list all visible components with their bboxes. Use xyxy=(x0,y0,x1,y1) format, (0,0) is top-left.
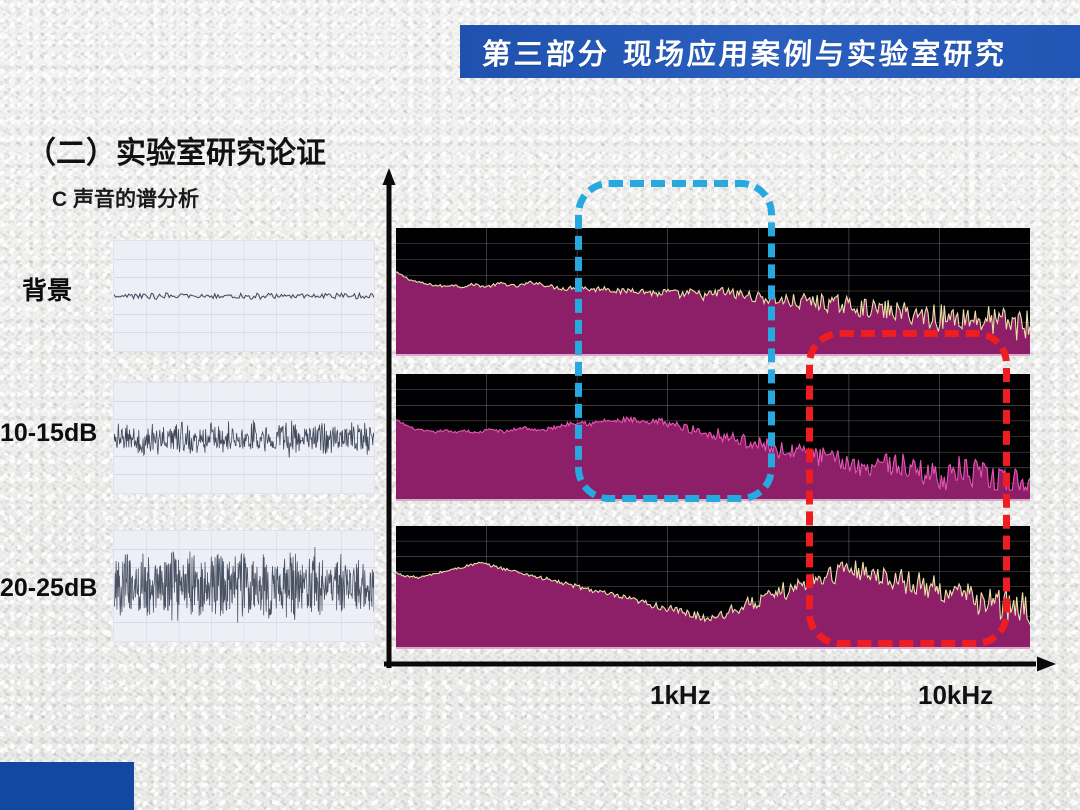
row-label-level-20-25db: 20-25dB xyxy=(0,574,97,603)
waveform-chart-level-10-15db xyxy=(114,383,374,493)
waveform-gridlines xyxy=(114,241,374,351)
x-axis-tick-10khz: 10kHz xyxy=(918,680,993,711)
spectrum-panel-level-10-15db xyxy=(396,374,1030,501)
decorative-corner-block xyxy=(0,762,134,810)
x-axis-arrow xyxy=(384,655,1056,677)
spectrum-panel-level-20-25db xyxy=(396,526,1030,649)
waveform-panel-level-20-25db xyxy=(113,530,375,642)
x-axis-tick-1khz: 1kHz xyxy=(650,680,711,711)
waveform-panel-level-10-15db xyxy=(113,382,375,494)
spectrum-panel-background xyxy=(396,228,1030,356)
spectrum-chart-background xyxy=(396,228,1030,354)
waveform-panel-background xyxy=(113,240,375,352)
waveform-chart-background xyxy=(114,241,374,351)
header-banner: 第三部分 现场应用案例与实验室研究 xyxy=(460,25,1080,78)
waveform-chart-level-20-25db xyxy=(114,531,374,641)
header-banner-title: 第三部分 现场应用案例与实验室研究 xyxy=(481,31,1008,73)
spectrum-chart-level-10-15db xyxy=(396,374,1030,499)
page-title: （二）实验室研究论证 xyxy=(26,128,326,172)
spectrum-fill-area xyxy=(396,561,1030,647)
y-axis-arrow xyxy=(382,168,396,668)
row-label-level-10-15db: 10-15dB xyxy=(0,419,97,448)
spectrum-chart-level-20-25db xyxy=(396,526,1030,647)
row-label-background: 背景 xyxy=(22,271,72,307)
page-subtitle: C 声音的谱分析 xyxy=(52,183,199,213)
